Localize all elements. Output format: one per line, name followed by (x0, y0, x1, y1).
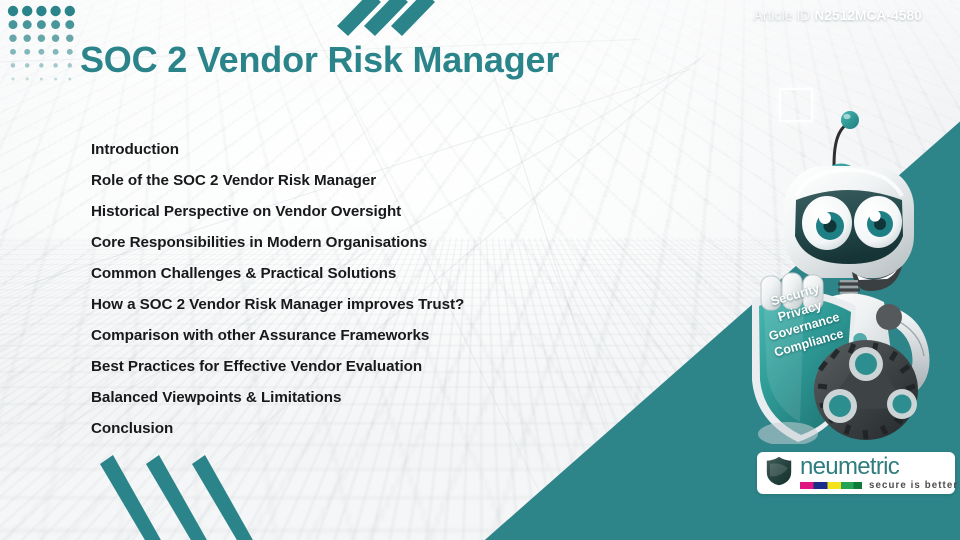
article-id: Article ID N2512MCA-4580 (754, 8, 922, 23)
agenda-item: How a SOC 2 Vendor Risk Manager improves… (91, 289, 711, 320)
neumetric-logo: neumetric secure is better (757, 452, 955, 494)
page-title: SOC 2 Vendor Risk Manager (80, 40, 559, 80)
stripe (192, 455, 254, 540)
agenda-item: Conclusion (91, 413, 711, 444)
agenda-item: Core Responsibilities in Modern Organisa… (91, 227, 711, 258)
logo-wordmark: neumetric secure is better (800, 456, 958, 491)
dot-grid-decoration (6, 4, 78, 87)
agenda-item: Introduction (91, 134, 711, 165)
agenda-item: Comparison with other Assurance Framewor… (91, 320, 711, 351)
article-id-value: N2512MCA-4580 (814, 8, 922, 23)
agenda-item: Best Practices for Effective Vendor Eval… (91, 351, 711, 382)
agenda-item: Balanced Viewpoints & Limitations (91, 382, 711, 413)
logo-name: neumetric (800, 453, 899, 480)
agenda-list: IntroductionRole of the SOC 2 Vendor Ris… (91, 134, 711, 444)
logo-sub-row: secure is better (800, 480, 958, 491)
stripes-bottom-decoration (96, 452, 271, 540)
slide-root: Article ID N2512MCA-4580 SOC 2 Vendor Ri… (0, 0, 960, 540)
logo-color-bar (800, 482, 862, 489)
shield-icon (764, 455, 794, 492)
agenda-item: Role of the SOC 2 Vendor Risk Manager (91, 165, 711, 196)
article-id-label: Article ID (754, 8, 811, 23)
agenda-item: Common Challenges & Practical Solutions (91, 258, 711, 289)
agenda-item: Historical Perspective on Vendor Oversig… (91, 196, 711, 227)
robot-mascot (726, 104, 960, 444)
logo-tagline: secure is better (869, 480, 958, 491)
